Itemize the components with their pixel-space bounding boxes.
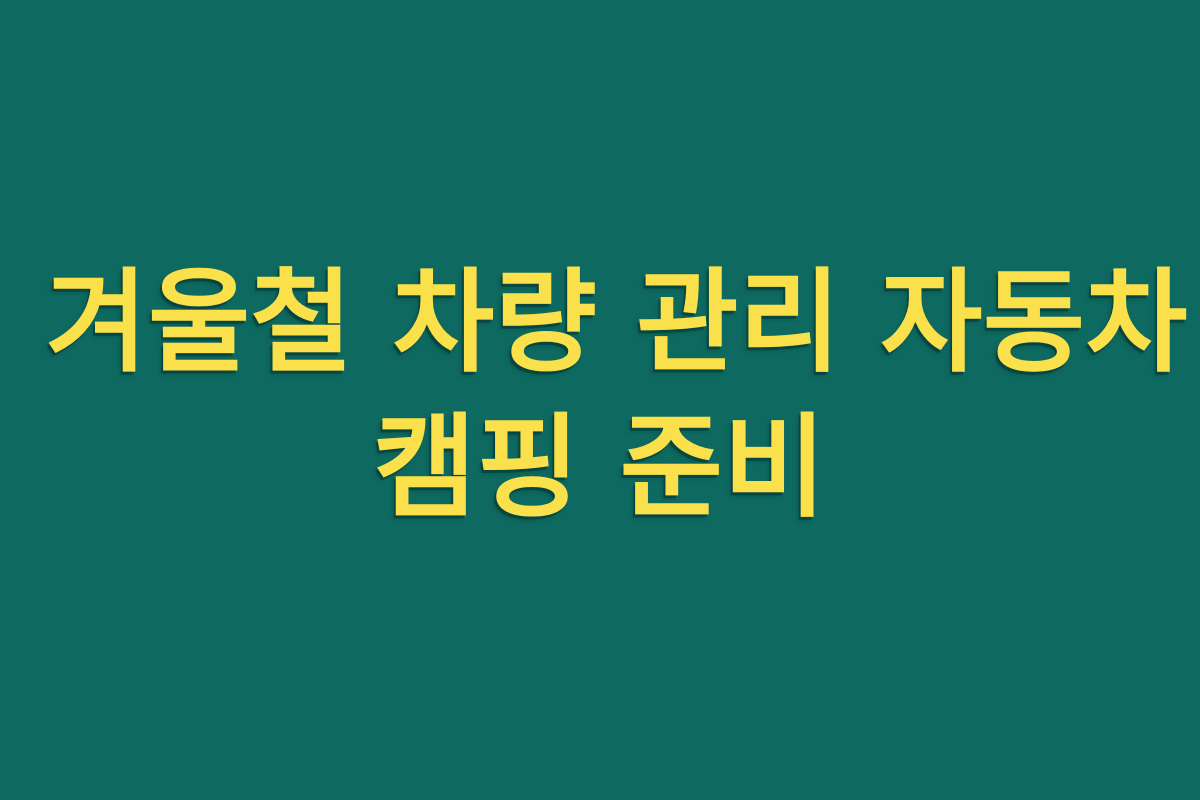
title-line-2: 캠핑 준비 — [40, 396, 1160, 541]
title-text-block: 겨울철 차량 관리 자동차 캠핑 준비 — [40, 251, 1160, 541]
title-line-1: 겨울철 차량 관리 자동차 — [46, 251, 1155, 396]
title-card: 겨울철 차량 관리 자동차 캠핑 준비 — [0, 0, 1200, 800]
